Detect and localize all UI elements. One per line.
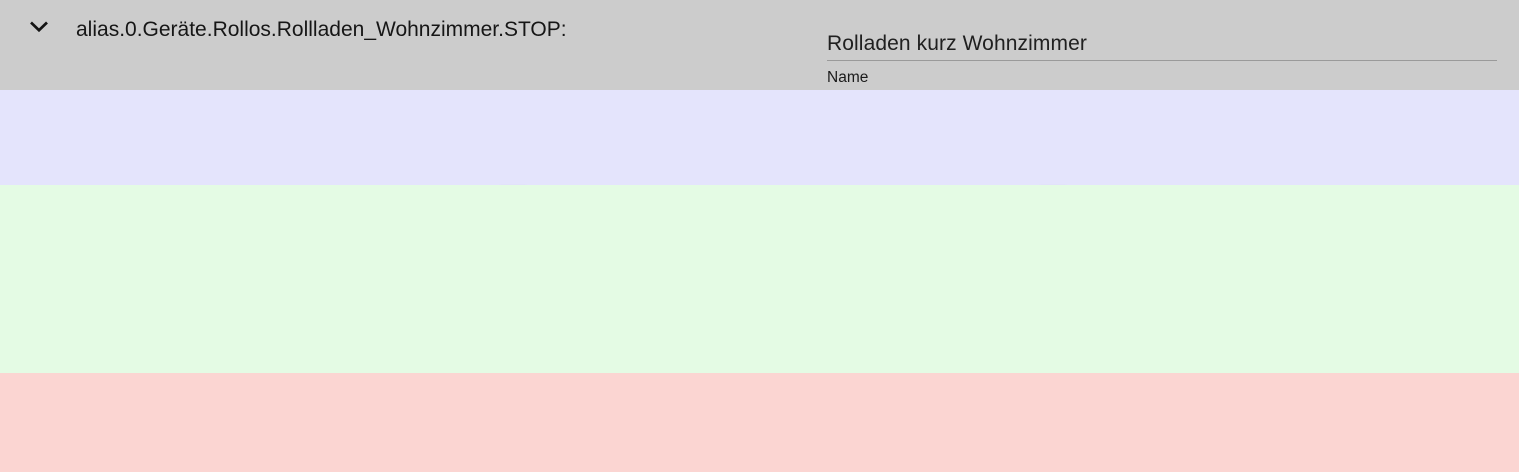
page-title: alias.0.Geräte.Rollos.Rollladen_Wohnzimm… [76,17,567,43]
object-alias-editor: alias.0.Geräte.Rollos.Rollladen_Wohnzimm… [0,0,1519,472]
name-field-label: Name [827,69,868,87]
name-field-value[interactable]: Rolladen kurz Wohnzimmer [827,32,1087,56]
name-field[interactable]: Rolladen kurz Wohnzimmer Name [827,6,1497,90]
limits-row: common.min common.max common.read common… [0,185,1519,373]
name-field-underline [827,60,1497,61]
alias-row: knx.0.Rolladen.Rolladen_kurz.Rolladen_ku… [0,373,1519,472]
header-row: alias.0.Geräte.Rollos.Rollladen_Wohnzimm… [0,0,1519,90]
chevron-down-icon[interactable] [24,12,54,42]
common-row: button.stop.blind common.role boolean co… [0,90,1519,185]
